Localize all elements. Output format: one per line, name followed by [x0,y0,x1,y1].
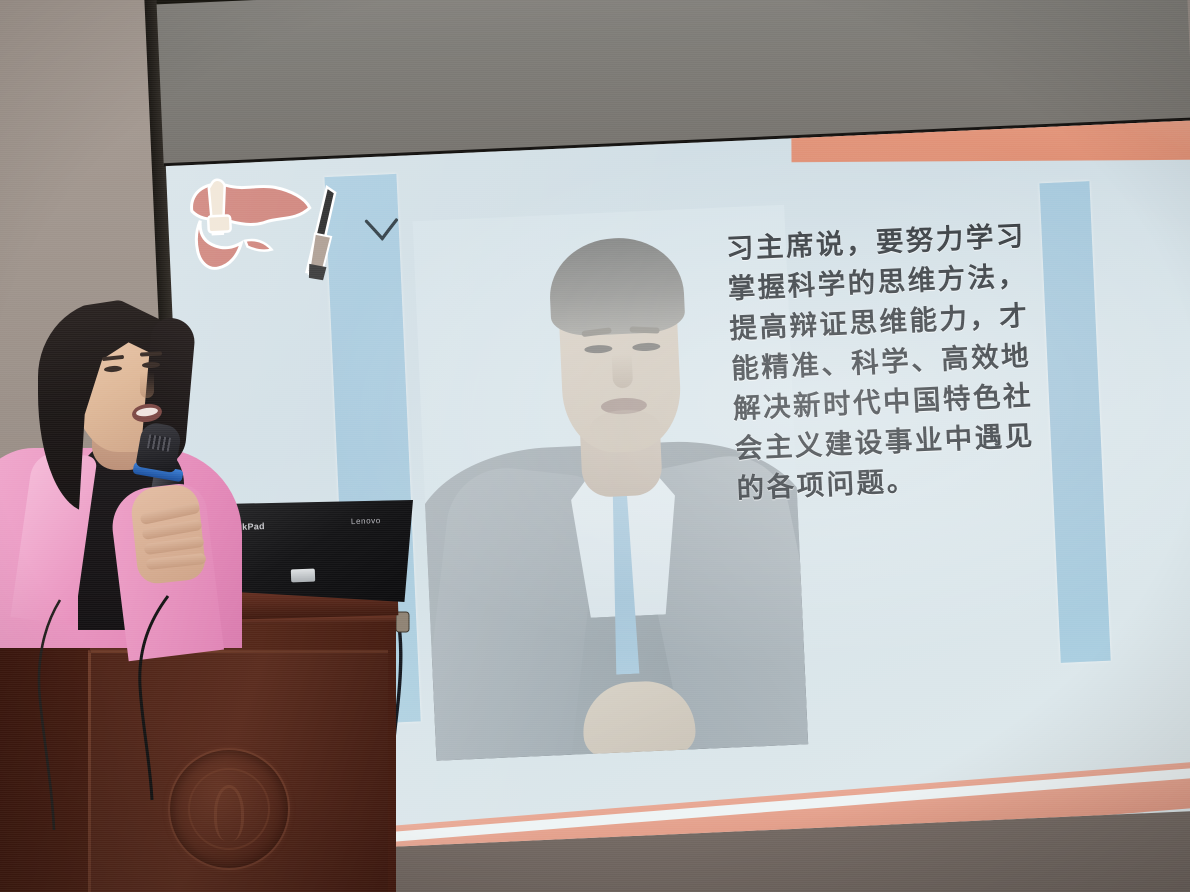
lectern-side-panel [0,640,90,892]
laptop-sticker [291,569,315,583]
seal-glyph [214,785,244,841]
slide-quote-text: 习主席说，要努力学习 掌握科学的思维方法， 提高辩证思维能力，才 能精准、科学、… [725,215,1053,509]
speaker-nose [140,372,154,398]
lenovo-logo: Lenovo [351,515,413,529]
university-seal-emblem [168,748,290,870]
presentation-photo: 习主席说，要努力学习 掌握科学的思维方法， 提高辩证思维能力，才 能精准、科学、… [0,0,1190,892]
flying-bird-icon [364,218,399,241]
slide-accent-bar-right [1039,181,1110,663]
writing-brush-icon [293,184,353,286]
